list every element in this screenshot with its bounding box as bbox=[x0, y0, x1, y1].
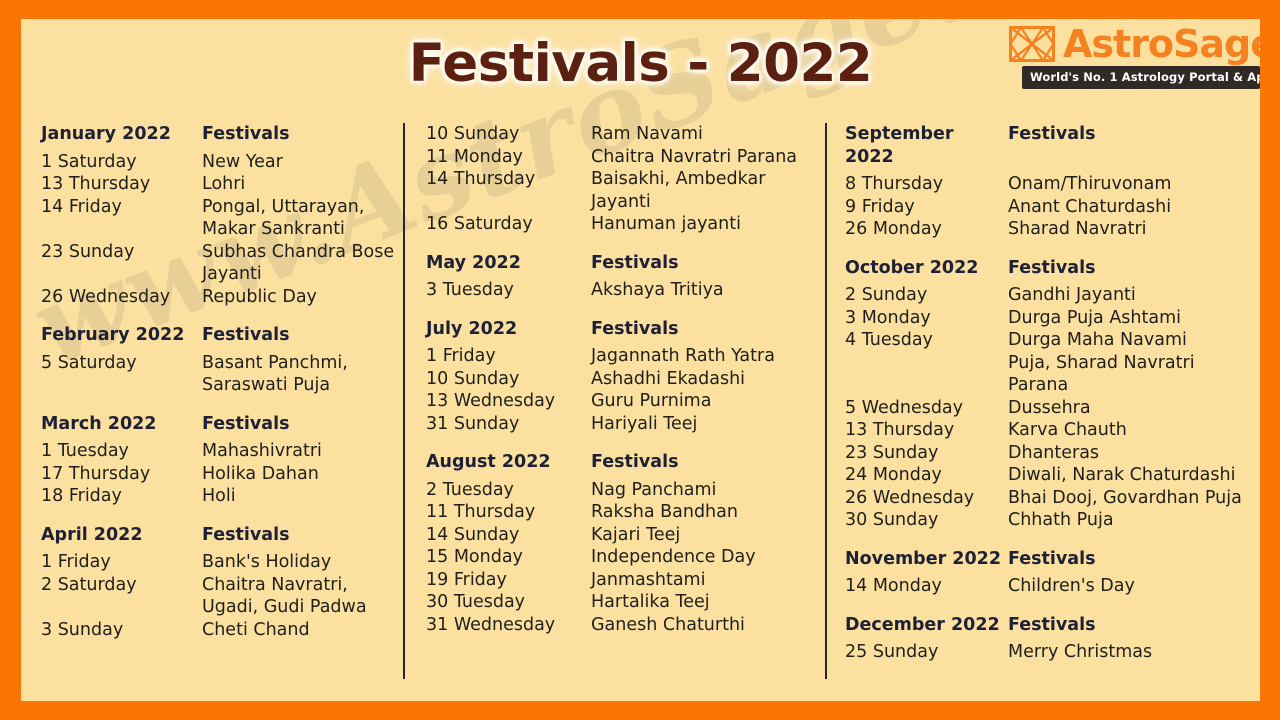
entry-date: 2 Sunday bbox=[845, 284, 1008, 307]
month-header-row: February 2022 Festivals bbox=[41, 324, 403, 347]
festivals-label: Festivals bbox=[202, 324, 403, 347]
entry-festival: Hartalika Teej bbox=[591, 591, 825, 614]
entry-festival: Republic Day bbox=[202, 286, 403, 309]
festival-row: 1 Tuesday Mahashivratri bbox=[41, 440, 403, 463]
festival-row: 5 Wednesday Dussehra bbox=[845, 397, 1259, 420]
month-block-april-continued: 10 Sunday Ram Navami 11 Monday Chaitra N… bbox=[426, 123, 825, 236]
entry-festival: Sharad Navratri bbox=[1008, 218, 1259, 241]
entry-festival: Independence Day bbox=[591, 546, 825, 569]
month-header-row: September 2022 Festivals bbox=[845, 123, 1259, 168]
entry-date: 11 Thursday bbox=[426, 501, 591, 524]
festival-row: 17 Thursday Holika Dahan bbox=[41, 463, 403, 486]
festival-row: 16 Saturday Hanuman jayanti bbox=[426, 213, 825, 236]
month-label: February 2022 bbox=[41, 324, 202, 347]
entry-festival: Chaitra Navratri Parana bbox=[591, 146, 825, 169]
entry-date: 1 Friday bbox=[426, 345, 591, 368]
festival-row: 10 Sunday Ashadhi Ekadashi bbox=[426, 368, 825, 391]
entry-date: 23 Sunday bbox=[845, 442, 1008, 465]
entry-date: 1 Tuesday bbox=[41, 440, 202, 463]
festival-row: 25 Sunday Merry Christmas bbox=[845, 641, 1259, 664]
festival-row: 11 Thursday Raksha Bandhan bbox=[426, 501, 825, 524]
month-label: October 2022 bbox=[845, 257, 1008, 280]
entry-festival: Dussehra bbox=[1008, 397, 1259, 420]
month-header-row: May 2022 Festivals bbox=[426, 252, 825, 275]
entry-festival: Raksha Bandhan bbox=[591, 501, 825, 524]
month-block-october: October 2022 Festivals 2 Sunday Gandhi J… bbox=[845, 257, 1259, 532]
festival-row: 5 Saturday Basant Panchmi, Saraswati Puj… bbox=[41, 352, 403, 397]
festival-row: 13 Wednesday Guru Purnima bbox=[426, 390, 825, 413]
entry-date: 14 Friday bbox=[41, 196, 202, 219]
festival-row: 4 Tuesday Durga Maha Navami Puja, Sharad… bbox=[845, 329, 1259, 397]
entry-festival: Nag Panchami bbox=[591, 479, 825, 502]
entry-festival: Cheti Chand bbox=[202, 619, 403, 642]
month-block-march: March 2022 Festivals 1 Tuesday Mahashivr… bbox=[41, 413, 403, 508]
entry-festival: Holi bbox=[202, 485, 403, 508]
entry-date: 11 Monday bbox=[426, 146, 591, 169]
entry-date: 17 Thursday bbox=[41, 463, 202, 486]
festival-row: 13 Thursday Karva Chauth bbox=[845, 419, 1259, 442]
entry-date: 14 Monday bbox=[845, 575, 1008, 598]
entry-date: 30 Tuesday bbox=[426, 591, 591, 614]
festival-row: 13 Thursday Lohri bbox=[41, 173, 403, 196]
entry-festival: New Year bbox=[202, 151, 403, 174]
entry-festival: Diwali, Narak Chaturdashi bbox=[1008, 464, 1259, 487]
entry-festival: Basant Panchmi, Saraswati Puja bbox=[202, 352, 403, 397]
entry-date: 15 Monday bbox=[426, 546, 591, 569]
entry-date: 8 Thursday bbox=[845, 173, 1008, 196]
festival-calendar-poster: www.AstroSage.com Festivals - 2022 Ast bbox=[0, 0, 1280, 720]
festival-row: 14 Sunday Kajari Teej bbox=[426, 524, 825, 547]
entry-festival: Lohri bbox=[202, 173, 403, 196]
month-label: May 2022 bbox=[426, 252, 591, 275]
entry-festival: Hanuman jayanti bbox=[591, 213, 825, 236]
month-header-row: December 2022 Festivals bbox=[845, 614, 1259, 637]
column-1: January 2022 Festivals 1 Saturday New Ye… bbox=[21, 123, 403, 679]
festival-row: 23 Sunday Dhanteras bbox=[845, 442, 1259, 465]
entry-festival: Janmashtami bbox=[591, 569, 825, 592]
festival-row: 3 Sunday Cheti Chand bbox=[41, 619, 403, 642]
month-block-august: August 2022 Festivals 2 Tuesday Nag Panc… bbox=[426, 451, 825, 636]
entry-festival: Chhath Puja bbox=[1008, 509, 1259, 532]
month-header-row: August 2022 Festivals bbox=[426, 451, 825, 474]
festival-row: 2 Sunday Gandhi Jayanti bbox=[845, 284, 1259, 307]
month-block-april: April 2022 Festivals 1 Friday Bank's Hol… bbox=[41, 524, 403, 642]
month-label: November 2022 bbox=[845, 548, 1008, 571]
festivals-label: Festivals bbox=[202, 123, 403, 146]
logo-wordmark: AstroSage bbox=[1063, 25, 1260, 63]
entry-festival: Subhas Chandra Bose Jayanti bbox=[202, 241, 403, 286]
entry-festival: Children's Day bbox=[1008, 575, 1259, 598]
festival-row: 2 Tuesday Nag Panchami bbox=[426, 479, 825, 502]
festival-row: 26 Wednesday Republic Day bbox=[41, 286, 403, 309]
entry-festival: Bhai Dooj, Govardhan Puja bbox=[1008, 487, 1259, 510]
month-block-september: September 2022 Festivals 8 Thursday Onam… bbox=[845, 123, 1259, 241]
entry-date: 26 Wednesday bbox=[41, 286, 202, 309]
festival-row: 3 Tuesday Akshaya Tritiya bbox=[426, 279, 825, 302]
festival-row: 26 Monday Sharad Navratri bbox=[845, 218, 1259, 241]
month-label: December 2022 bbox=[845, 614, 1008, 637]
festival-row: 23 Sunday Subhas Chandra Bose Jayanti bbox=[41, 241, 403, 286]
entry-festival: Anant Chaturdashi bbox=[1008, 196, 1259, 219]
month-block-february: February 2022 Festivals 5 Saturday Basan… bbox=[41, 324, 403, 397]
festival-row: 14 Friday Pongal, Uttarayan, Makar Sankr… bbox=[41, 196, 403, 241]
poster-header: Festivals - 2022 AstroSage World' bbox=[21, 19, 1260, 123]
month-label: March 2022 bbox=[41, 413, 202, 436]
entry-date: 3 Sunday bbox=[41, 619, 202, 642]
entry-festival: Hariyali Teej bbox=[591, 413, 825, 436]
festival-row: 9 Friday Anant Chaturdashi bbox=[845, 196, 1259, 219]
festival-row: 1 Friday Bank's Holiday bbox=[41, 551, 403, 574]
entry-date: 1 Friday bbox=[41, 551, 202, 574]
month-label: January 2022 bbox=[41, 123, 202, 146]
entry-date: 30 Sunday bbox=[845, 509, 1008, 532]
entry-date: 3 Tuesday bbox=[426, 279, 591, 302]
festival-row: 24 Monday Diwali, Narak Chaturdashi bbox=[845, 464, 1259, 487]
festival-row: 1 Saturday New Year bbox=[41, 151, 403, 174]
month-block-december: December 2022 Festivals 25 Sunday Merry … bbox=[845, 614, 1259, 664]
festival-row: 8 Thursday Onam/Thiruvonam bbox=[845, 173, 1259, 196]
entry-festival: Bank's Holiday bbox=[202, 551, 403, 574]
column-3: September 2022 Festivals 8 Thursday Onam… bbox=[825, 123, 1259, 679]
entry-date: 3 Monday bbox=[845, 307, 1008, 330]
entry-date: 24 Monday bbox=[845, 464, 1008, 487]
festivals-label: Festivals bbox=[591, 318, 825, 341]
entry-date: 14 Sunday bbox=[426, 524, 591, 547]
festivals-label: Festivals bbox=[1008, 614, 1259, 637]
entry-festival: Chaitra Navratri, Ugadi, Gudi Padwa bbox=[202, 574, 403, 619]
entry-festival: Jagannath Rath Yatra bbox=[591, 345, 825, 368]
entry-festival: Merry Christmas bbox=[1008, 641, 1259, 664]
month-header-row: October 2022 Festivals bbox=[845, 257, 1259, 280]
month-block-may: May 2022 Festivals 3 Tuesday Akshaya Tri… bbox=[426, 252, 825, 302]
festival-row: 11 Monday Chaitra Navratri Parana bbox=[426, 146, 825, 169]
festival-row: 30 Tuesday Hartalika Teej bbox=[426, 591, 825, 614]
festivals-label: Festivals bbox=[591, 252, 825, 275]
entry-date: 9 Friday bbox=[845, 196, 1008, 219]
column-2: 10 Sunday Ram Navami 11 Monday Chaitra N… bbox=[403, 123, 825, 679]
entry-festival: Guru Purnima bbox=[591, 390, 825, 413]
month-label: July 2022 bbox=[426, 318, 591, 341]
festival-row: 2 Saturday Chaitra Navratri, Ugadi, Gudi… bbox=[41, 574, 403, 619]
entry-date: 4 Tuesday bbox=[845, 329, 1008, 352]
logo-tagline: World's No. 1 Astrology Portal & App bbox=[1022, 66, 1260, 89]
entry-date: 26 Monday bbox=[845, 218, 1008, 241]
entry-festival: Gandhi Jayanti bbox=[1008, 284, 1259, 307]
festivals-label: Festivals bbox=[202, 524, 403, 547]
festival-row: 31 Wednesday Ganesh Chaturthi bbox=[426, 614, 825, 637]
entry-festival: Ashadhi Ekadashi bbox=[591, 368, 825, 391]
entry-date: 10 Sunday bbox=[426, 368, 591, 391]
festivals-label: Festivals bbox=[1008, 123, 1259, 146]
kundli-chart-icon bbox=[1008, 25, 1056, 63]
festivals-label: Festivals bbox=[202, 413, 403, 436]
month-header-row: July 2022 Festivals bbox=[426, 318, 825, 341]
entry-festival: Baisakhi, Ambedkar Jayanti bbox=[591, 168, 825, 213]
entry-date: 19 Friday bbox=[426, 569, 591, 592]
poster-sheet: www.AstroSage.com Festivals - 2022 Ast bbox=[21, 19, 1260, 701]
entry-date: 26 Wednesday bbox=[845, 487, 1008, 510]
logo-top-row: AstroSage bbox=[1002, 25, 1260, 63]
entry-date: 10 Sunday bbox=[426, 123, 591, 146]
month-header-row: November 2022 Festivals bbox=[845, 548, 1259, 571]
entry-festival: Durga Maha Navami Puja, Sharad Navratri … bbox=[1008, 329, 1259, 397]
entry-date: 2 Tuesday bbox=[426, 479, 591, 502]
festival-row: 1 Friday Jagannath Rath Yatra bbox=[426, 345, 825, 368]
entry-date: 13 Wednesday bbox=[426, 390, 591, 413]
month-header-row: April 2022 Festivals bbox=[41, 524, 403, 547]
entry-festival: Holika Dahan bbox=[202, 463, 403, 486]
entry-date: 31 Wednesday bbox=[426, 614, 591, 637]
festivals-label: Festivals bbox=[1008, 548, 1259, 571]
entry-festival: Onam/Thiruvonam bbox=[1008, 173, 1259, 196]
entry-date: 13 Thursday bbox=[845, 419, 1008, 442]
month-header-row: March 2022 Festivals bbox=[41, 413, 403, 436]
astrosage-logo[interactable]: AstroSage World's No. 1 Astrology Portal… bbox=[1002, 25, 1260, 89]
entry-festival: Pongal, Uttarayan, Makar Sankranti bbox=[202, 196, 403, 241]
entry-date: 18 Friday bbox=[41, 485, 202, 508]
month-block-january: January 2022 Festivals 1 Saturday New Ye… bbox=[41, 123, 403, 308]
month-block-november: November 2022 Festivals 14 Monday Childr… bbox=[845, 548, 1259, 598]
festival-row: 3 Monday Durga Puja Ashtami bbox=[845, 307, 1259, 330]
entry-date: 2 Saturday bbox=[41, 574, 202, 597]
month-label: September 2022 bbox=[845, 123, 1008, 168]
entry-date: 14 Thursday bbox=[426, 168, 591, 191]
festival-row: 15 Monday Independence Day bbox=[426, 546, 825, 569]
entry-festival: Kajari Teej bbox=[591, 524, 825, 547]
entry-date: 5 Saturday bbox=[41, 352, 202, 375]
festival-row: 19 Friday Janmashtami bbox=[426, 569, 825, 592]
entry-date: 13 Thursday bbox=[41, 173, 202, 196]
festival-row: 31 Sunday Hariyali Teej bbox=[426, 413, 825, 436]
entry-festival: Mahashivratri bbox=[202, 440, 403, 463]
entry-festival: Karva Chauth bbox=[1008, 419, 1259, 442]
entry-festival: Ganesh Chaturthi bbox=[591, 614, 825, 637]
festival-row: 26 Wednesday Bhai Dooj, Govardhan Puja bbox=[845, 487, 1259, 510]
month-label: August 2022 bbox=[426, 451, 591, 474]
festival-row: 14 Thursday Baisakhi, Ambedkar Jayanti bbox=[426, 168, 825, 213]
entry-festival: Durga Puja Ashtami bbox=[1008, 307, 1259, 330]
entry-festival: Dhanteras bbox=[1008, 442, 1259, 465]
festival-columns: January 2022 Festivals 1 Saturday New Ye… bbox=[21, 123, 1260, 679]
month-block-july: July 2022 Festivals 1 Friday Jagannath R… bbox=[426, 318, 825, 436]
festival-row: 18 Friday Holi bbox=[41, 485, 403, 508]
entry-date: 1 Saturday bbox=[41, 151, 202, 174]
month-header-row: January 2022 Festivals bbox=[41, 123, 403, 146]
entry-festival: Akshaya Tritiya bbox=[591, 279, 825, 302]
entry-date: 23 Sunday bbox=[41, 241, 202, 264]
month-label: April 2022 bbox=[41, 524, 202, 547]
entry-date: 31 Sunday bbox=[426, 413, 591, 436]
festivals-label: Festivals bbox=[591, 451, 825, 474]
festivals-label: Festivals bbox=[1008, 257, 1259, 280]
entry-date: 16 Saturday bbox=[426, 213, 591, 236]
entry-date: 25 Sunday bbox=[845, 641, 1008, 664]
festival-row: 14 Monday Children's Day bbox=[845, 575, 1259, 598]
entry-festival: Ram Navami bbox=[591, 123, 825, 146]
festival-row: 30 Sunday Chhath Puja bbox=[845, 509, 1259, 532]
entry-date: 5 Wednesday bbox=[845, 397, 1008, 420]
festival-row: 10 Sunday Ram Navami bbox=[426, 123, 825, 146]
